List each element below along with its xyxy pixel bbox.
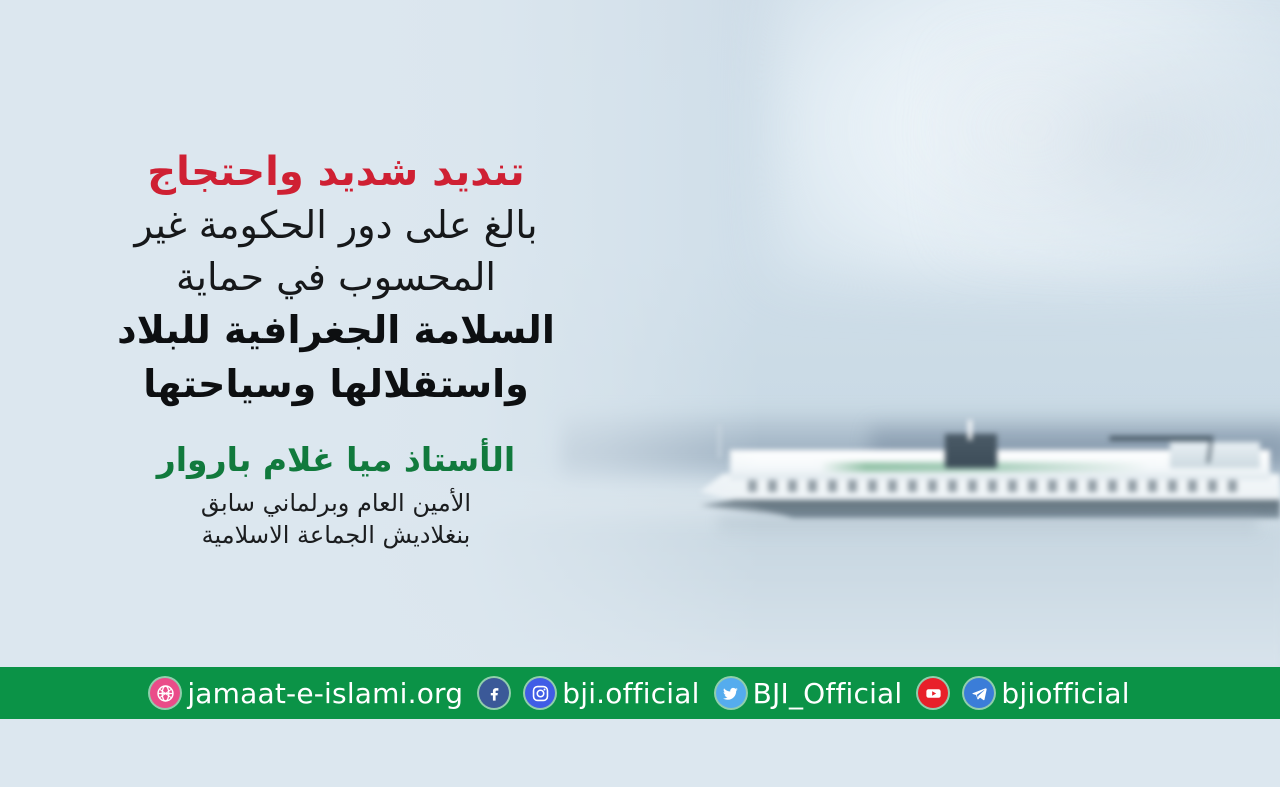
- speaker-role-line-1: الأمين العام وبرلماني سابق: [0, 487, 672, 519]
- bottom-plate: [0, 719, 1280, 787]
- telegram-icon[interactable]: [964, 678, 994, 708]
- cloud-shadow: [940, 30, 1280, 260]
- speaker-role-block: الأمين العام وبرلماني سابق بنغلاديش الجم…: [0, 487, 672, 552]
- social-item-youtube[interactable]: [918, 678, 948, 708]
- twitter-icon[interactable]: [716, 678, 746, 708]
- website-icon[interactable]: [150, 678, 180, 708]
- social-handle-twitter[interactable]: BJI_Official: [753, 677, 903, 710]
- statement-line-4: واستقلالها وسياحتها: [0, 358, 672, 412]
- social-item-facebook[interactable]: [479, 678, 509, 708]
- social-handle-website[interactable]: jamaat-e-islami.org: [187, 677, 463, 710]
- statement-line-2: المحسوب في حماية: [0, 251, 672, 303]
- water-reflection: [718, 516, 1258, 538]
- statement-text-block: تنديد شديد واحتجاج بالغ على دور الحكومة …: [0, 150, 672, 551]
- speaker-role-line-2: بنغلاديش الجماعة الاسلامية: [0, 519, 672, 551]
- facebook-icon[interactable]: [479, 678, 509, 708]
- social-item-telegram[interactable]: bjiofficial: [964, 677, 1129, 710]
- ship-window-row: [748, 480, 1248, 492]
- instagram-icon[interactable]: [525, 678, 555, 708]
- speaker-name: الأستاذ ميا غلام باروار: [0, 442, 672, 479]
- headline-red: تنديد شديد واحتجاج: [0, 150, 672, 195]
- poster-canvas: تنديد شديد واحتجاج بالغ على دور الحكومة …: [0, 0, 1280, 787]
- social-item-twitter[interactable]: BJI_Official: [716, 677, 903, 710]
- social-handle-instagram[interactable]: bji.official: [562, 677, 699, 710]
- statement-line-1: بالغ على دور الحكومة غير: [0, 199, 672, 251]
- social-media-bar: jamaat-e-islami.org bji.official: [0, 667, 1280, 719]
- social-handle-telegram[interactable]: bjiofficial: [1001, 677, 1129, 710]
- social-item-instagram[interactable]: bji.official: [525, 677, 699, 710]
- ship-mast: [968, 420, 972, 440]
- youtube-icon[interactable]: [918, 678, 948, 708]
- social-item-website[interactable]: jamaat-e-islami.org: [150, 677, 463, 710]
- ship-crane: [1106, 436, 1214, 463]
- ship-illustration: [700, 428, 1280, 520]
- statement-line-3: السلامة الجغرافية للبلاد: [0, 304, 672, 358]
